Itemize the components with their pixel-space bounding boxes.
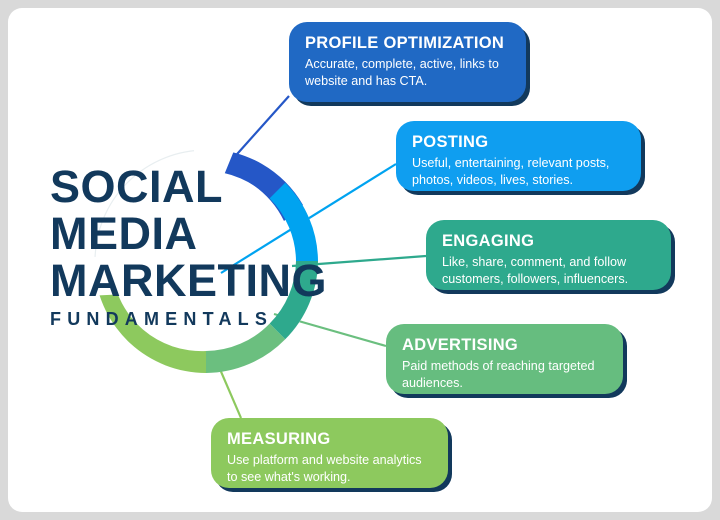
connector-measuring: [213, 353, 241, 418]
card-engaging[interactable]: ENGAGING Like, share, comment, and follo…: [426, 220, 671, 290]
card-posting[interactable]: POSTING Useful, entertaining, relevant p…: [396, 121, 641, 191]
card-advertising[interactable]: ADVERTISING Paid methods of reaching tar…: [386, 324, 623, 394]
connector-profile-optimization: [230, 96, 289, 162]
card-title-advertising: ADVERTISING: [402, 335, 607, 355]
infographic-root: SOCIAL MEDIA MARKETING FUNDAMENTALS PROF…: [0, 0, 720, 520]
title-line-1: SOCIAL: [50, 163, 298, 210]
title-line-3: MARKETING: [50, 257, 298, 304]
infographic-canvas: SOCIAL MEDIA MARKETING FUNDAMENTALS PROF…: [8, 8, 712, 512]
title-line-2: MEDIA: [50, 210, 298, 257]
card-body-measuring: Use platform and website analytics to se…: [227, 452, 432, 486]
card-body-engaging: Like, share, comment, and follow custome…: [442, 254, 655, 288]
card-profile-optimization[interactable]: PROFILE OPTIMIZATION Accurate, complete,…: [289, 22, 526, 102]
card-title-profile-optimization: PROFILE OPTIMIZATION: [305, 33, 510, 53]
card-body-profile-optimization: Accurate, complete, active, links to web…: [305, 56, 510, 90]
card-body-posting: Useful, entertaining, relevant posts, ph…: [412, 155, 625, 189]
card-title-posting: POSTING: [412, 132, 625, 152]
card-title-measuring: MEASURING: [227, 429, 432, 449]
card-body-advertising: Paid methods of reaching targeted audien…: [402, 358, 607, 392]
card-measuring[interactable]: MEASURING Use platform and website analy…: [211, 418, 448, 488]
title-subtitle: FUNDAMENTALS: [50, 304, 298, 334]
page-title: SOCIAL MEDIA MARKETING FUNDAMENTALS: [50, 163, 298, 334]
card-title-engaging: ENGAGING: [442, 231, 655, 251]
